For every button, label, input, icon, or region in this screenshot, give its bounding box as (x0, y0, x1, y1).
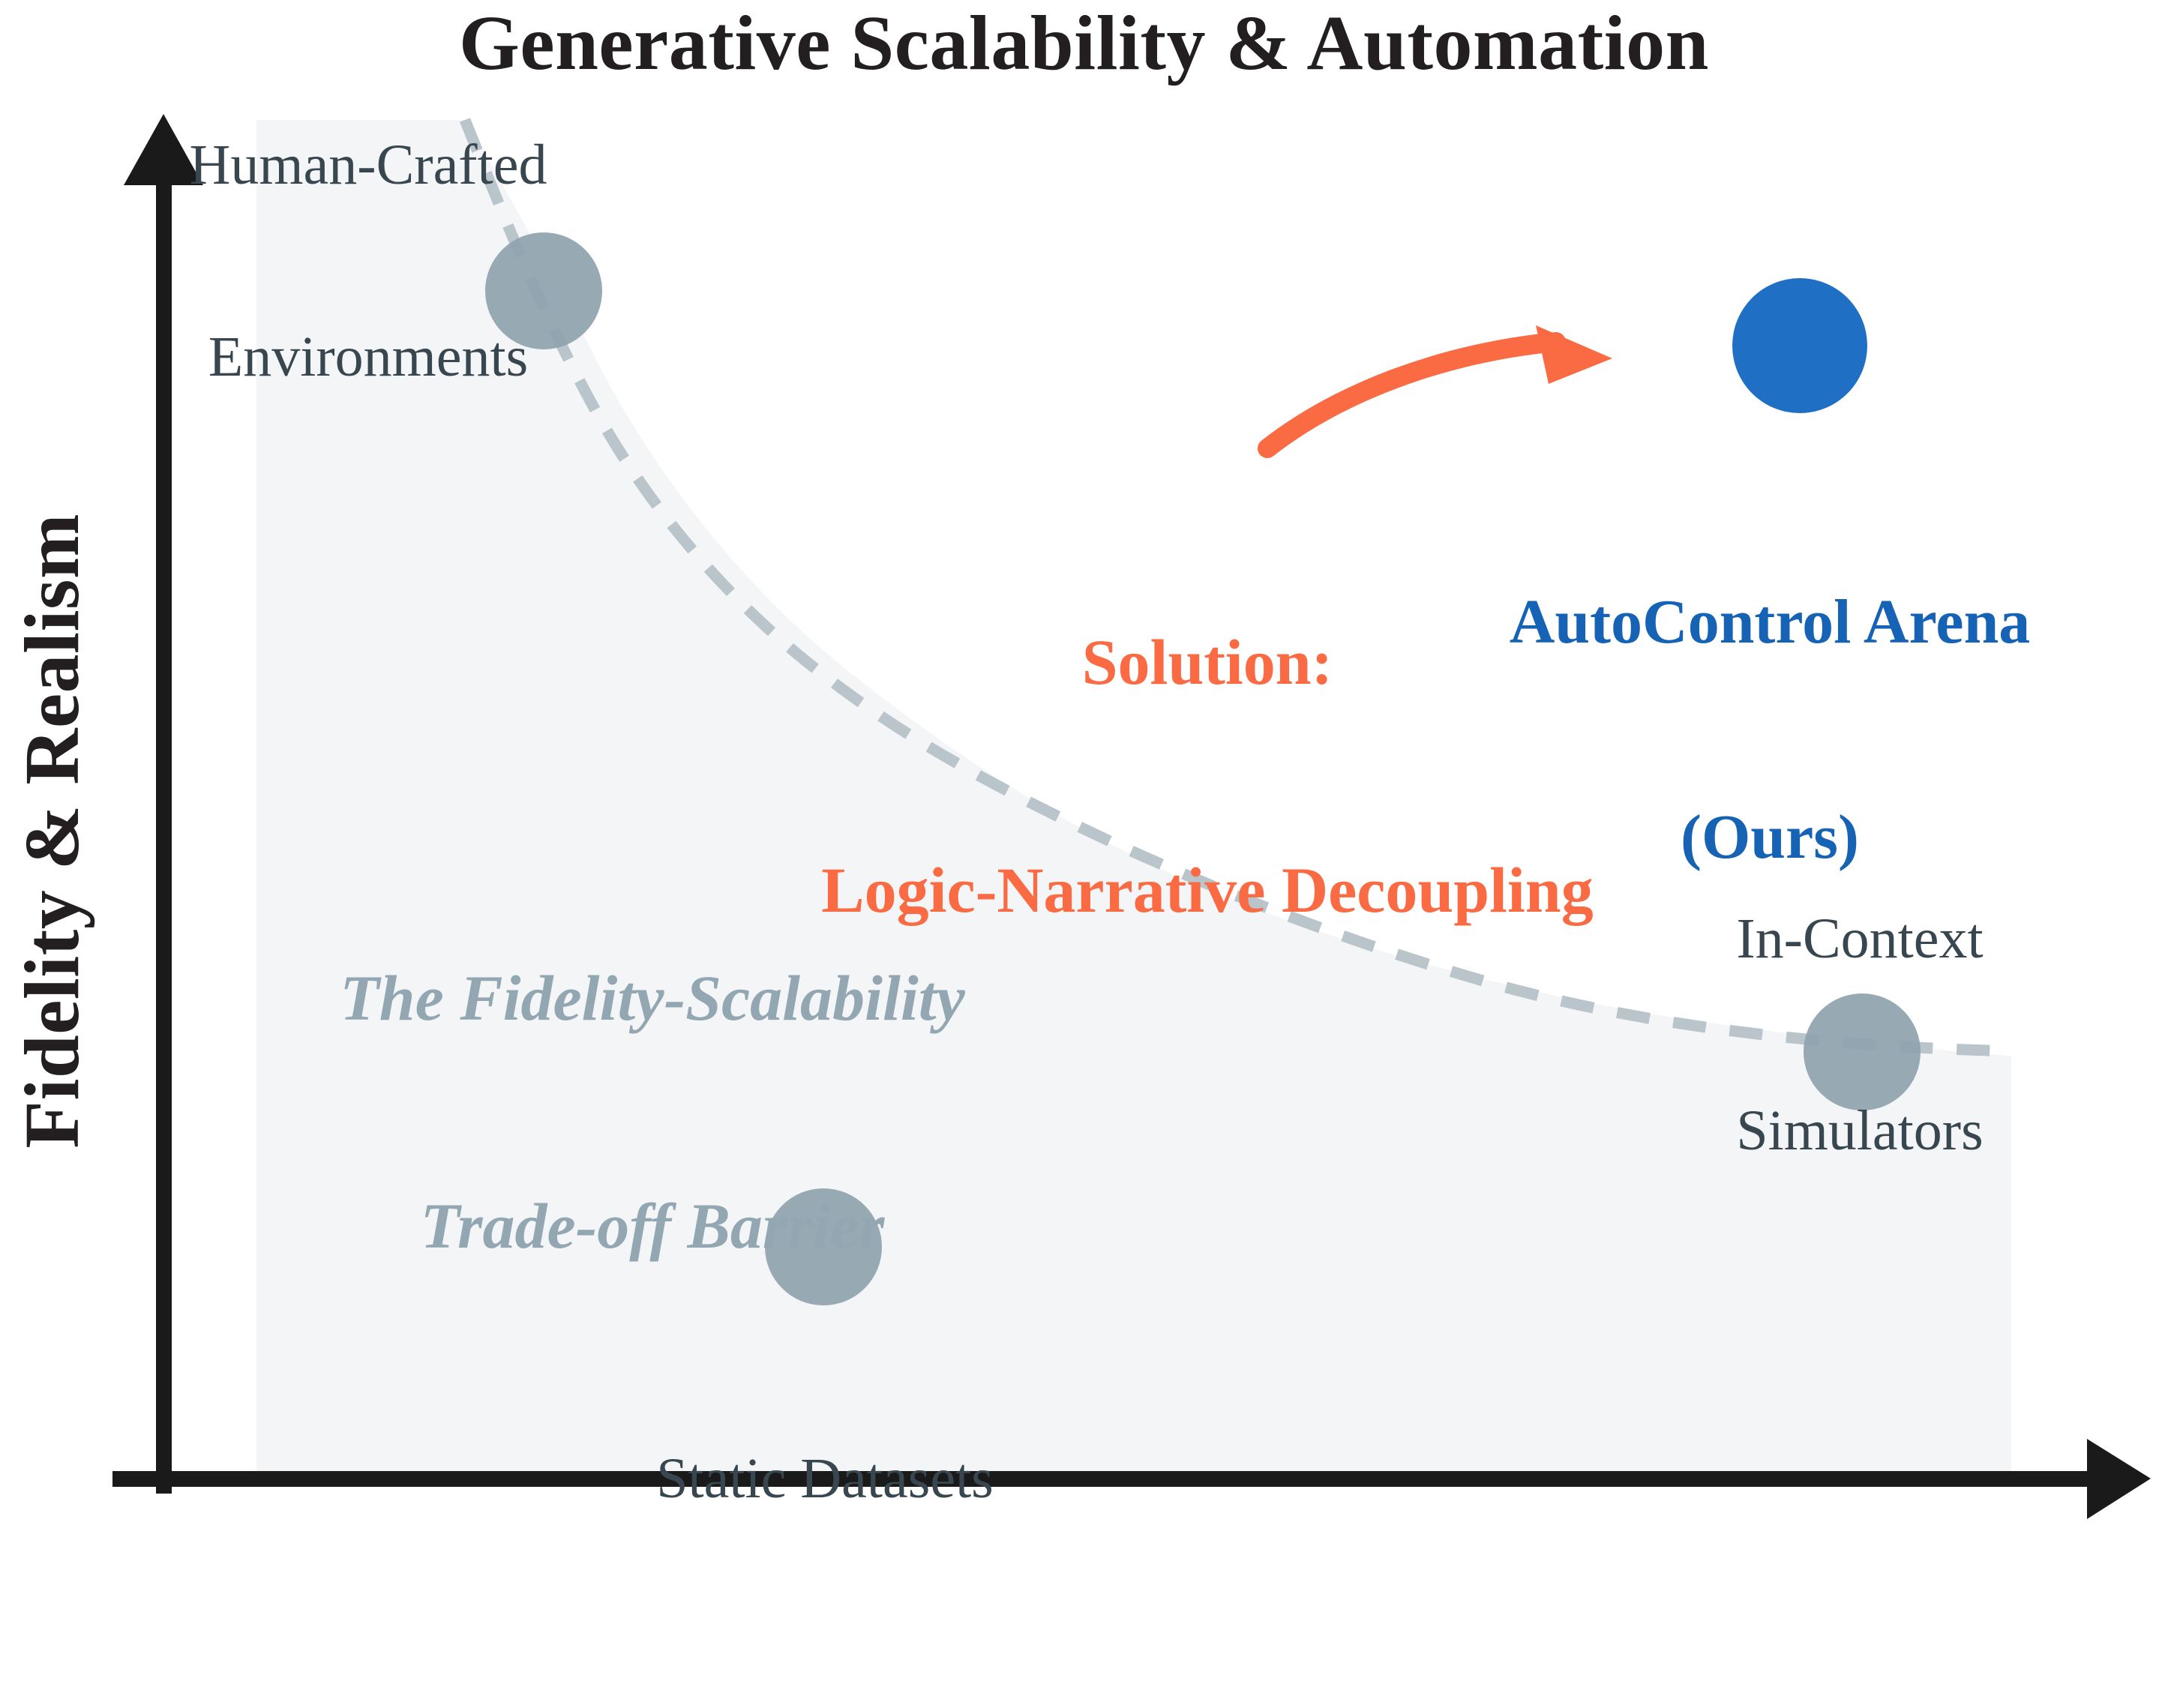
point-autocontrol-arena-ours[interactable] (1732, 278, 1867, 413)
label-autocontrol-arena-ours: AutoControl Arena (Ours) (1447, 442, 2092, 1017)
x-axis-title: Generative Scalability & Automation (0, 0, 2168, 87)
label-incontext-line2: Simulators (1657, 1099, 2062, 1163)
label-ours-line1: AutoControl Arena (1447, 586, 2092, 658)
label-human-crafted-line1: Human-Crafted (139, 133, 597, 197)
figure-canvas: Human-Crafted Environments Static Datase… (0, 0, 2168, 1708)
y-axis-title: Fidelity & Realism (9, 456, 96, 1206)
label-static-datasets-line1: Static Datasets (600, 1447, 1050, 1511)
barrier-annotation-line2: Trade-off Barrier (255, 1188, 1050, 1264)
label-ours-line2: (Ours) (1447, 802, 2092, 873)
label-human-crafted-line2: Environments (139, 325, 597, 389)
